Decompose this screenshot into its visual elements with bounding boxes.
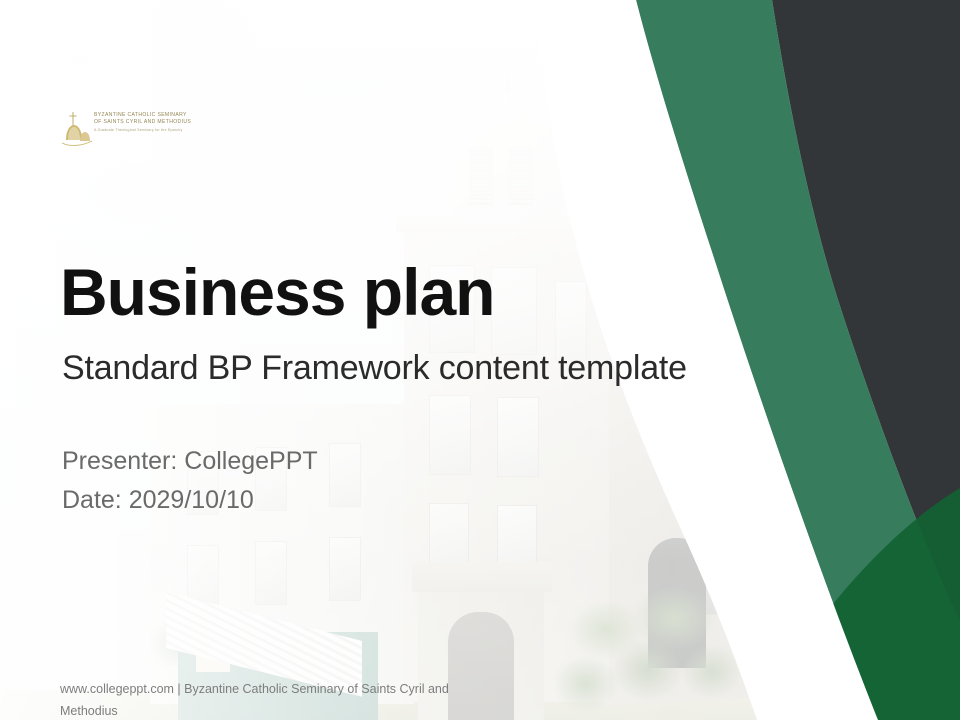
logo-text-block: BYZANTINE CATHOLIC SEMINARY OF SAINTS CY…	[94, 112, 194, 134]
slide-title: Business plan	[60, 258, 494, 327]
presentation-slide: BYZANTINE CATHOLIC SEMINARY OF SAINTS CY…	[0, 0, 960, 720]
date-line: Date: 2029/10/10	[62, 481, 318, 520]
logo-line-1: BYZANTINE CATHOLIC SEMINARY	[94, 112, 194, 119]
presenter-line: Presenter: CollegePPT	[62, 442, 318, 481]
slide-footer: www.collegeppt.com | Byzantine Catholic …	[60, 678, 490, 720]
logo-line-3: A Graduate Theological Seminary for the …	[94, 127, 194, 134]
logo-line-2: OF SAINTS CYRIL AND METHODIUS	[94, 119, 194, 126]
seminary-logo: BYZANTINE CATHOLIC SEMINARY OF SAINTS CY…	[62, 110, 194, 152]
slide-meta: Presenter: CollegePPT Date: 2029/10/10	[62, 442, 318, 520]
slide-subtitle: Standard BP Framework content template	[62, 349, 687, 388]
golden-dome-church-icon	[62, 110, 92, 148]
